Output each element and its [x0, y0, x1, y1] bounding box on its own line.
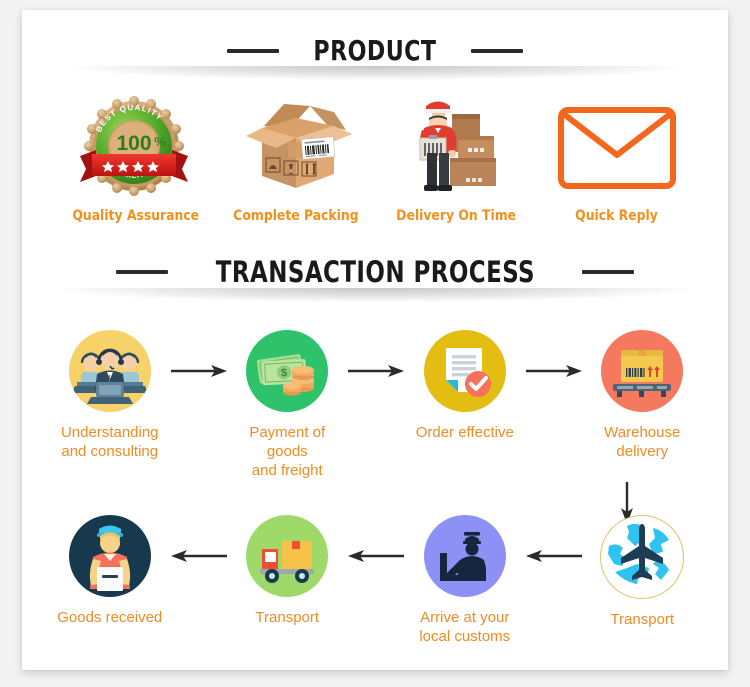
- arrow-right-icon: [523, 330, 585, 412]
- process-label: Understanding and consulting: [61, 423, 159, 461]
- support-agents-icon: [69, 330, 151, 412]
- process-step-understanding[interactable]: Understanding and consulting: [52, 330, 168, 461]
- process-step-goods-received[interactable]: Goods received: [52, 515, 168, 627]
- customs-officer-icon: [424, 515, 506, 597]
- heading-dash-right: [471, 49, 523, 53]
- content-card: PRODUCT: [22, 10, 728, 670]
- heading-dash-left: [227, 49, 279, 53]
- process-title: TRANSACTION PROCESS: [215, 255, 534, 289]
- process-row-2: Goods received: [52, 515, 700, 646]
- process-step-customs[interactable]: Arrive at your local customs: [407, 515, 523, 646]
- process-section-heading: TRANSACTION PROCESS: [22, 255, 728, 289]
- process-label: Payment of goods and freight: [230, 423, 346, 480]
- delivery-man-boxes-icon: [391, 92, 521, 196]
- product-item-delivery-on-time[interactable]: Delivery On Time: [376, 92, 536, 224]
- process-step-transport-air[interactable]: Transport: [585, 515, 701, 629]
- arrow-left-icon: [345, 515, 407, 597]
- process-label: Transport: [255, 608, 319, 627]
- process-row-1: Understanding and consulting: [52, 330, 700, 480]
- product-title: PRODUCT: [313, 34, 436, 67]
- product-label: Quick Reply: [575, 208, 658, 224]
- product-items-row: BEST QUALITY QUALITY 100 %: [56, 92, 696, 224]
- process-step-payment[interactable]: $: [230, 330, 346, 480]
- page-background: PRODUCT: [0, 0, 750, 687]
- process-step-order-effective[interactable]: Order effective: [407, 330, 523, 442]
- delivery-truck-icon: [246, 515, 328, 597]
- open-carton-box-icon: [231, 92, 361, 196]
- process-label: Arrive at your local customs: [419, 608, 510, 646]
- arrow-right-icon: [168, 330, 230, 412]
- product-heading-shadow: [65, 66, 685, 80]
- svg-text:$: $: [281, 367, 288, 379]
- arrow-left-icon: [168, 515, 230, 597]
- cash-money-icon: $: [246, 330, 328, 412]
- product-label: Complete Packing: [233, 208, 358, 224]
- product-label: Delivery On Time: [396, 208, 516, 224]
- quality-badge-icon: BEST QUALITY QUALITY 100 %: [71, 92, 201, 196]
- product-item-quick-reply[interactable]: Quick Reply: [536, 92, 696, 224]
- envelope-icon: [551, 92, 681, 196]
- svg-text:100: 100: [116, 132, 151, 155]
- heading-dash-left: [116, 270, 168, 274]
- arrow-left-icon: [523, 515, 585, 597]
- product-item-complete-packing[interactable]: Complete Packing: [216, 92, 376, 224]
- person-receiving-parcel-icon: [69, 515, 151, 597]
- document-check-icon: [424, 330, 506, 412]
- svg-text:%: %: [154, 134, 166, 149]
- process-label: Goods received: [57, 608, 162, 627]
- heading-dash-right: [582, 270, 634, 274]
- warehouse-conveyor-box-icon: [601, 330, 683, 412]
- process-step-transport-truck[interactable]: Transport: [230, 515, 346, 627]
- process-step-warehouse-delivery[interactable]: Warehouse delivery: [585, 330, 701, 461]
- product-section-heading: PRODUCT: [22, 34, 728, 67]
- globe-airplane-icon: [600, 515, 684, 599]
- arrow-right-icon: [345, 330, 407, 412]
- process-heading-shadow: [55, 288, 695, 302]
- process-label: Warehouse delivery: [604, 423, 680, 461]
- product-label: Quality Assurance: [73, 208, 200, 224]
- process-label: Order effective: [416, 423, 514, 442]
- process-label: Transport: [610, 610, 674, 629]
- product-item-quality-assurance[interactable]: BEST QUALITY QUALITY 100 %: [56, 92, 216, 224]
